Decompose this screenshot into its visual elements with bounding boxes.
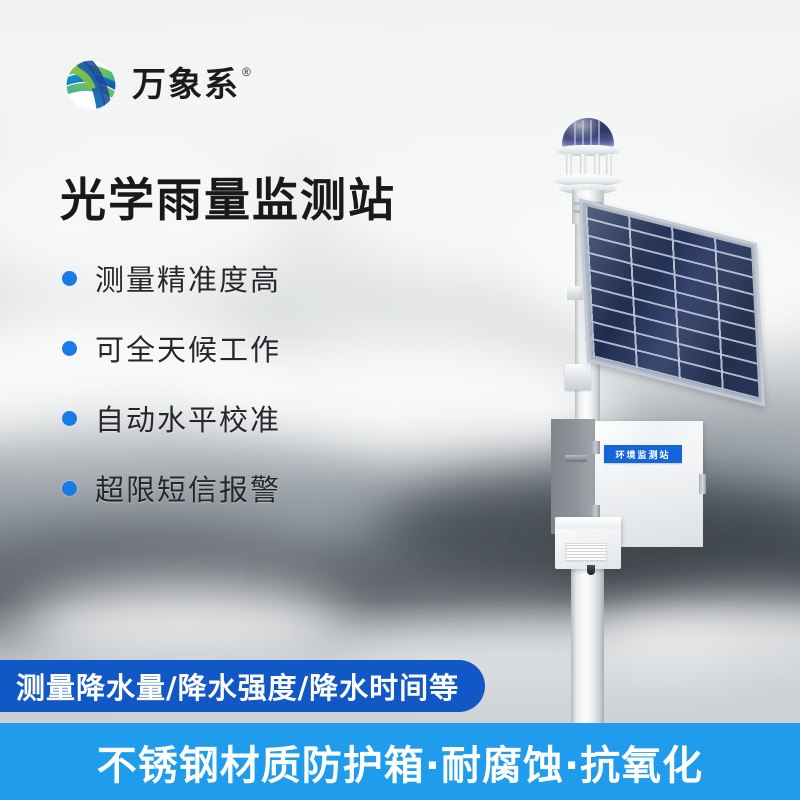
feature-item: 可全天候工作 (62, 328, 281, 368)
blue-dot-icon (62, 341, 77, 356)
brand-wordmark: 万象系 ® (132, 68, 251, 102)
feature-label: 自动水平校准 (95, 397, 281, 439)
feature-item: 自动水平校准 (62, 398, 281, 438)
registered-mark: ® (242, 66, 251, 78)
blue-dot-icon (62, 271, 77, 286)
feature-item: 测量精准度高 (62, 258, 281, 298)
feature-label: 测量精准度高 (95, 257, 281, 299)
globe-sphere-logo-icon (62, 56, 120, 114)
bottom-feature-bar: 不锈钢材质防护箱·耐腐蚀·抗氧化 (0, 723, 800, 800)
brand-logo: 万象系 ® (62, 56, 251, 114)
product-poster: 环境监测站 (0, 0, 800, 800)
blue-dot-icon (62, 481, 77, 496)
feature-list: 测量精准度高 可全天候工作 自动水平校准 超限短信报警 (62, 258, 281, 538)
feature-label: 可全天候工作 (95, 327, 281, 369)
bottom-bar-label: 不锈钢材质防护箱·耐腐蚀·抗氧化 (97, 733, 703, 791)
feature-label: 超限短信报警 (95, 467, 281, 509)
page-title: 光学雨量监测站 (60, 164, 396, 230)
feature-item: 超限短信报警 (62, 468, 281, 508)
brand-name: 万象系 (132, 68, 240, 102)
pill-banner-label: 测量降水量/降水强度/降水时间等 (16, 665, 459, 707)
measurement-pill-banner: 测量降水量/降水强度/降水时间等 (0, 660, 485, 712)
blue-dot-icon (62, 411, 77, 426)
